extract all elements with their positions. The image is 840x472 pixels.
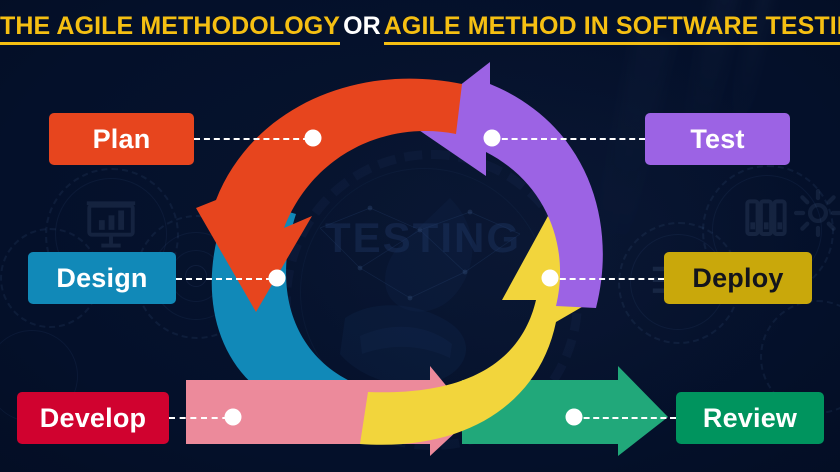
connector-line-design <box>176 278 282 280</box>
page-title: THE AGILE METHODOLOGYORAGILE METHOD IN S… <box>0 12 840 41</box>
plan-arrow[interactable] <box>196 79 462 312</box>
connector-line-deploy <box>550 278 664 280</box>
connector-line-test <box>492 138 645 140</box>
title-part-two: AGILE METHOD IN SOFTWARE TESTING <box>384 12 840 45</box>
stage-label-test[interactable]: Test <box>645 113 790 165</box>
node-dot-test <box>484 130 501 147</box>
stage-label-deploy[interactable]: Deploy <box>664 252 812 304</box>
stage-label-design[interactable]: Design <box>28 252 176 304</box>
node-dot-deploy <box>542 270 559 287</box>
node-dot-develop <box>225 409 242 426</box>
stage-label-plan[interactable]: Plan <box>49 113 194 165</box>
node-dot-design <box>269 270 286 287</box>
stage-label-develop[interactable]: Develop <box>17 392 169 444</box>
node-dot-review <box>566 409 583 426</box>
title-connector: OR <box>340 12 384 40</box>
connector-line-plan <box>194 138 319 140</box>
agile-methodology-infographic: TESTING THE AGILE METHODOLOGYORAGILE MET… <box>0 0 840 472</box>
stage-label-review[interactable]: Review <box>676 392 824 444</box>
title-part-one: THE AGILE METHODOLOGY <box>0 12 340 45</box>
connector-line-review <box>574 417 676 419</box>
node-dot-plan <box>305 130 322 147</box>
